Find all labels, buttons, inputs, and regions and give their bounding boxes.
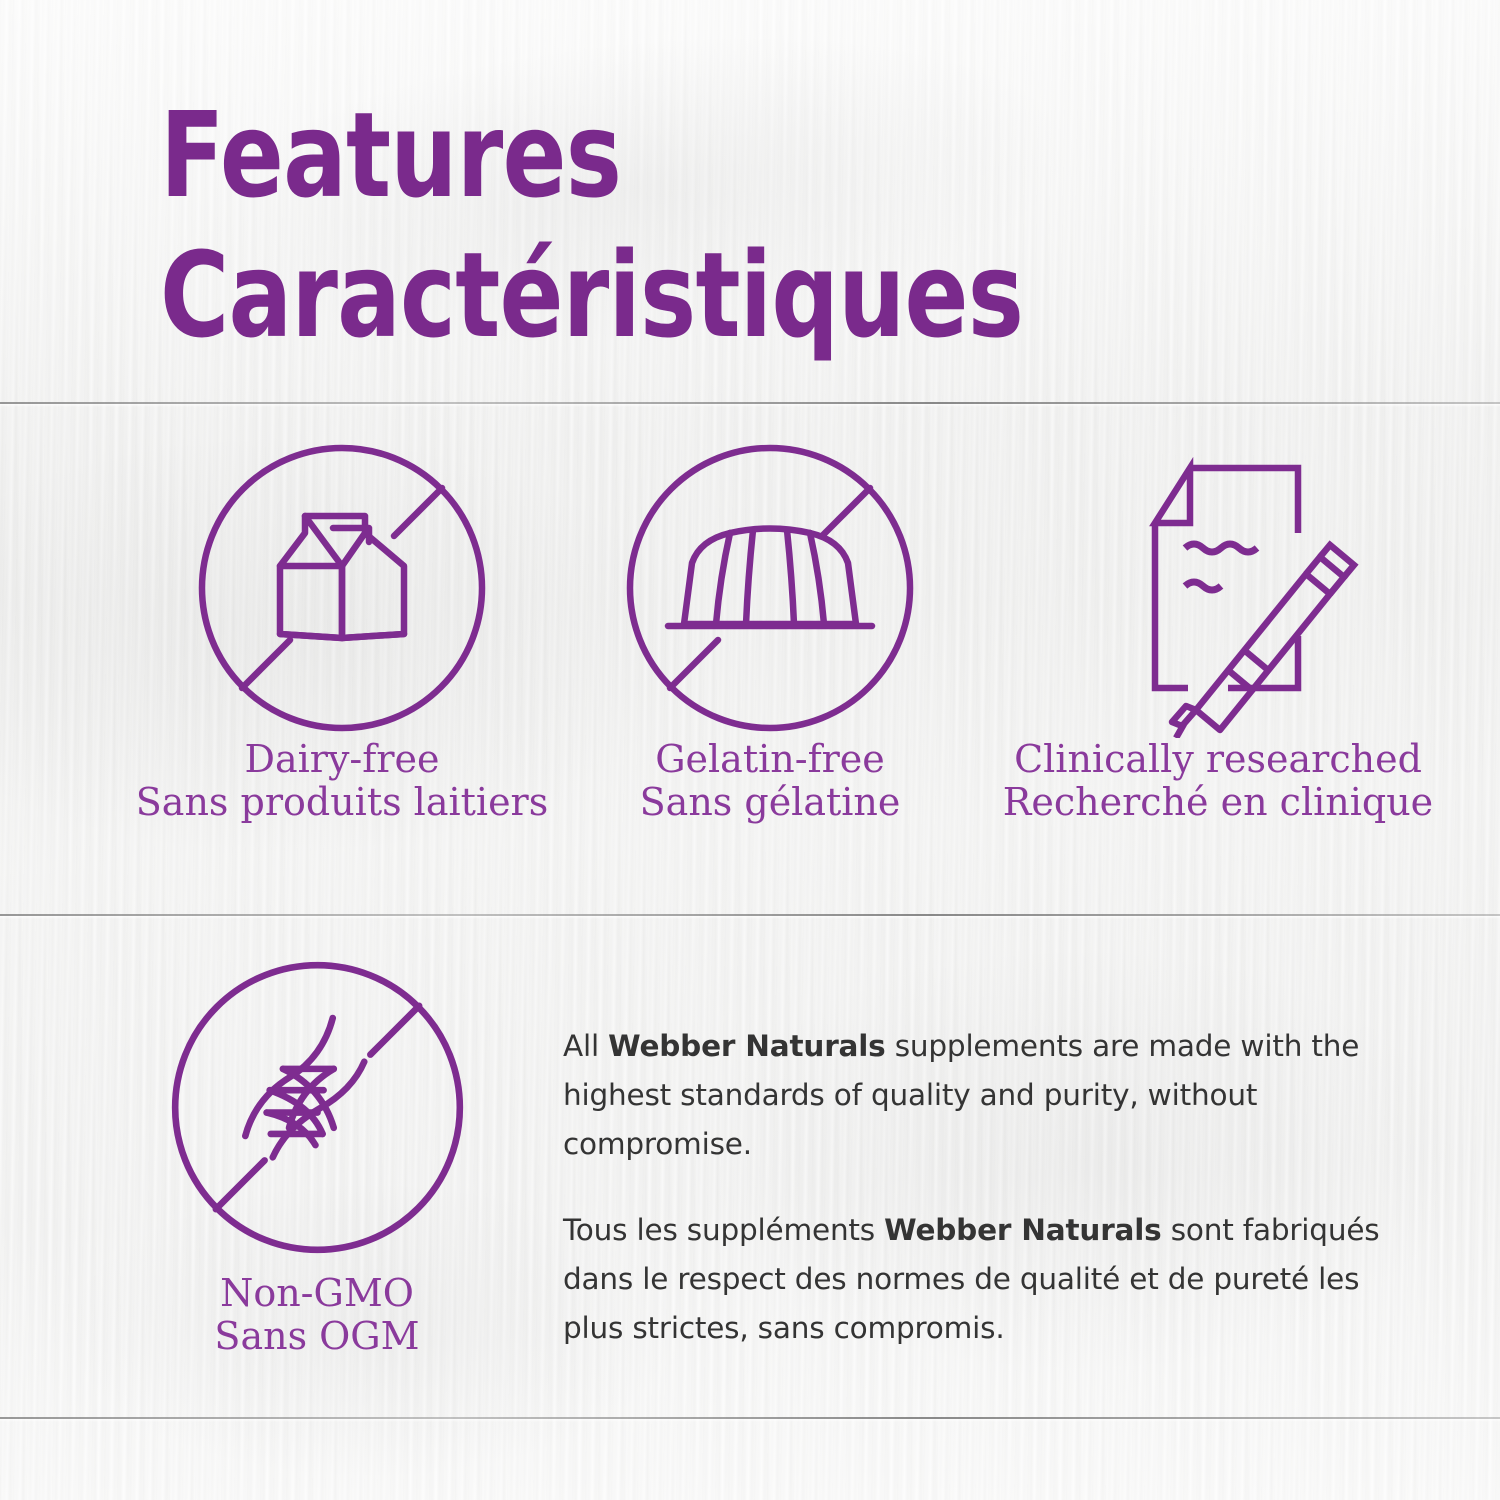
feature-label-en: Dairy-free: [62, 738, 622, 781]
plank-seam: [0, 401, 1500, 406]
non-gmo-dna-icon: [152, 955, 482, 1260]
feature-label-fr: Recherché en clinique: [968, 781, 1468, 824]
feature-gelatin-free: Gelatin-free Sans gélatine: [605, 438, 935, 823]
feature-label-fr: Sans OGM: [152, 1315, 482, 1358]
feature-label-en: Gelatin-free: [605, 738, 935, 781]
body-paragraph-en: All Webber Naturals supplements are made…: [563, 1022, 1393, 1169]
body-en-prefix: All: [563, 1029, 608, 1063]
feature-label-gelatin-free: Gelatin-free Sans gélatine: [605, 738, 935, 823]
plank-seam: [0, 913, 1500, 918]
brand-name: Webber Naturals: [608, 1029, 885, 1063]
no-gelatin-mold-icon: [605, 438, 935, 738]
feature-dairy-free: Dairy-free Sans produits laitiers: [62, 438, 622, 823]
feature-label-fr: Sans produits laitiers: [62, 781, 622, 824]
feature-label-non-gmo: Non-GMO Sans OGM: [152, 1272, 482, 1357]
clipboard-pen-research-icon: [968, 438, 1468, 738]
feature-label-en: Non-GMO: [152, 1272, 482, 1315]
feature-non-gmo: Non-GMO Sans OGM: [152, 955, 482, 1357]
feature-label-dairy-free: Dairy-free Sans produits laitiers: [62, 738, 622, 823]
feature-clinically-researched: Clinically researched Recherché en clini…: [968, 438, 1468, 823]
body-fr-prefix: Tous les suppléments: [563, 1213, 884, 1247]
feature-label-fr: Sans gélatine: [605, 781, 935, 824]
page-title-fr: Caractéristiques: [160, 236, 1023, 354]
feature-label-en: Clinically researched: [968, 738, 1468, 781]
page-title-en: Features: [160, 96, 1023, 214]
brand-name: Webber Naturals: [884, 1213, 1161, 1247]
body-copy: All Webber Naturals supplements are made…: [563, 1022, 1393, 1390]
plank-seam: [0, 1416, 1500, 1421]
no-dairy-milk-carton-icon: [62, 438, 622, 738]
body-paragraph-fr: Tous les suppléments Webber Naturals son…: [563, 1206, 1393, 1353]
feature-panel: Features Caractéristiques Dairy-free San…: [0, 0, 1500, 1500]
page-title: Features Caractéristiques: [160, 96, 1023, 354]
feature-label-clinically-researched: Clinically researched Recherché en clini…: [968, 738, 1468, 823]
